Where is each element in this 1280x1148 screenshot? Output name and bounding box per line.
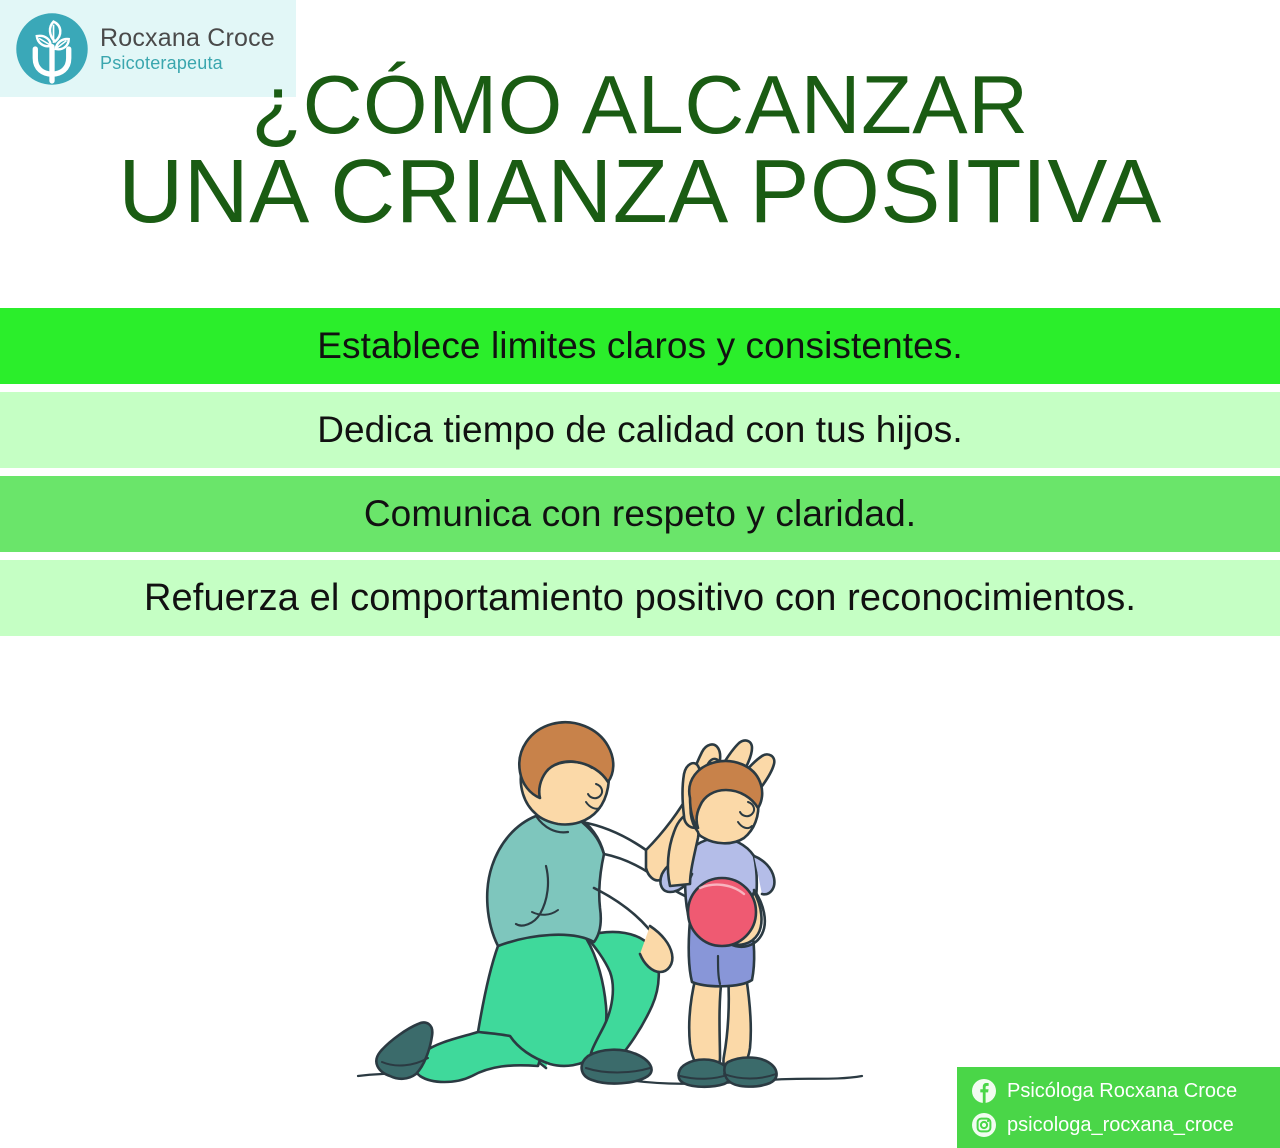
brand-name: Rocxana Croce: [100, 26, 275, 51]
instagram-icon: [971, 1112, 997, 1138]
page-title-line-2: UNA CRIANZA POSITIVA: [0, 148, 1280, 237]
tip-text-4: Refuerza el comportamiento positivo con …: [144, 577, 1136, 620]
facebook-handle: Psicóloga Rocxana Croce: [1007, 1080, 1237, 1103]
page-title: ¿CÓMO ALCANZAR UNA CRIANZA POSITIVA: [0, 64, 1280, 237]
tip-bar-1: Establece limites claros y consistentes.: [0, 308, 1280, 384]
tips-list: Establece limites claros y consistentes.…: [0, 308, 1280, 644]
tip-text-3: Comunica con respeto y claridad.: [364, 493, 916, 535]
social-footer: Psicóloga Rocxana Croce psicologa_rocxan…: [957, 1067, 1280, 1148]
tip-text-1: Establece limites claros y consistentes.: [317, 325, 963, 367]
social-item-instagram[interactable]: psicologa_rocxana_croce: [971, 1109, 1280, 1141]
parent-child-high-five-illustration: [350, 676, 870, 1096]
social-item-facebook[interactable]: Psicóloga Rocxana Croce: [971, 1075, 1280, 1107]
tip-bar-3: Comunica con respeto y claridad.: [0, 476, 1280, 552]
tip-text-2: Dedica tiempo de calidad con tus hijos.: [317, 409, 963, 451]
page-title-line-1: ¿CÓMO ALCANZAR: [0, 64, 1280, 146]
tip-bar-2: Dedica tiempo de calidad con tus hijos.: [0, 392, 1280, 468]
facebook-icon: [971, 1078, 997, 1104]
instagram-handle: psicologa_rocxana_croce: [1007, 1114, 1234, 1137]
tip-bar-4: Refuerza el comportamiento positivo con …: [0, 560, 1280, 636]
